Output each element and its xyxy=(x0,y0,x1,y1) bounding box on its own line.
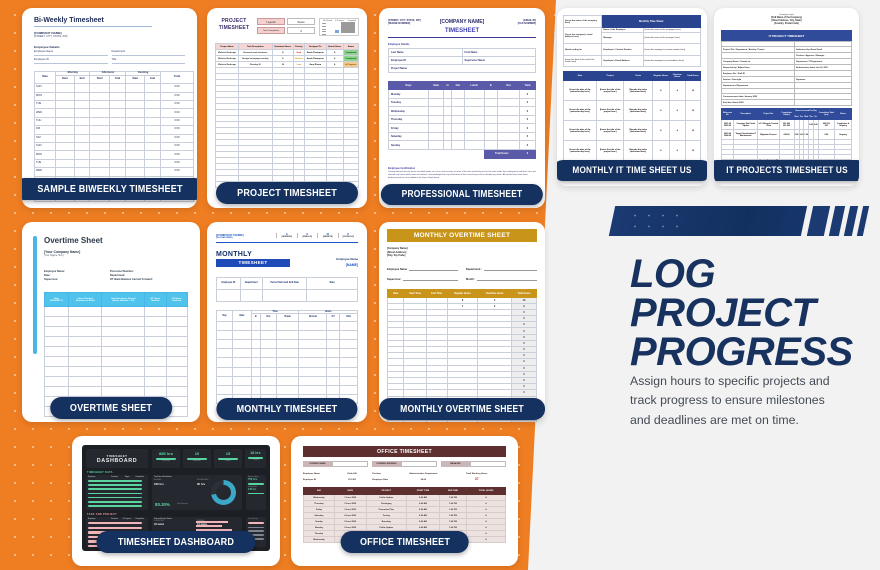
field-label-employee-id: Employee ID xyxy=(34,59,108,62)
section-task-and-project: TASK AND PROJECT xyxy=(87,513,117,516)
dashboard-title-box: TIMESHEET DASHBOARD xyxy=(86,449,148,468)
table-row: [Insert the date of the particular day h… xyxy=(564,81,701,101)
sheet-title: Overtime Sheet xyxy=(44,236,188,245)
table-row: Monday0 xyxy=(389,90,536,99)
employee-label: Employee Name xyxy=(290,257,358,261)
table-row: SAT0:00 xyxy=(35,134,194,142)
sheet-title: IT PROJECT TIMESHEET xyxy=(721,30,852,41)
meta-value-total: 4 xyxy=(287,27,315,34)
table-row: SUN0:00 xyxy=(35,84,194,92)
promo-title: LOG PROJECT PROGRESS xyxy=(630,255,880,371)
header-fax: [FAX NUMBER] xyxy=(490,22,536,25)
table-row: Month ending for Employee's Contact Numb… xyxy=(564,44,701,56)
legend-not-started: Not Started xyxy=(323,20,332,22)
table-row: FRI0:00 xyxy=(35,126,194,134)
table-header-row: Reference No. Description Project No. Co… xyxy=(722,109,852,114)
table-employee-overtime: Employee Overtime Target Completion xyxy=(86,475,148,510)
pill-label: OFFICE TIMESHEET xyxy=(359,536,449,548)
info-value-employee-rate: 20.00 xyxy=(404,479,442,481)
card-label-pill[interactable]: SAMPLE BIWEEKLY TIMESHEET xyxy=(22,178,197,200)
table-row: Saturday0 xyxy=(389,132,536,141)
table-row: Project Name xyxy=(389,65,536,73)
field-supervisor: Supervisor: xyxy=(387,278,401,281)
table-row: End date: March 2050 xyxy=(722,100,852,106)
header-phone: [PHONE NUMBER] xyxy=(388,22,434,25)
field-label-employee-name: Employee Name xyxy=(34,51,108,54)
utilization-donut-chart xyxy=(211,480,236,505)
field-department: Department : xyxy=(466,268,482,271)
pill-label: OVERTIME SHEET xyxy=(70,402,152,414)
card-label-pill[interactable]: PROJECT TIMESHEET xyxy=(216,182,358,204)
pill-label: MONTHLY IT TIME SHEET US xyxy=(572,165,691,176)
table-header-row: Date (DD/MM/YY) Hours Worked (Duration o… xyxy=(45,293,188,307)
pill-label: PROJECT TIMESHEET xyxy=(237,187,337,199)
pill-label: SAMPLE BIWEEKLY TIMESHEET xyxy=(37,183,182,195)
pill-label: TIMESHEET DASHBOARD xyxy=(118,536,234,548)
table-row: [Insert the date of the particular day h… xyxy=(564,101,701,121)
kpi-overtime: 48 hrs Overtime xyxy=(245,449,266,468)
section-heading: Employee Details xyxy=(34,46,189,50)
info-value-employee-name: Kelly Hill xyxy=(337,473,367,475)
card-label-pill[interactable]: TIMESHEET DASHBOARD xyxy=(96,531,255,553)
table-row: THU0:00 xyxy=(35,117,194,125)
table-row: Sunday0 xyxy=(389,141,536,150)
card-label-pill[interactable]: OVERTIME SHEET xyxy=(50,397,172,419)
table-header-row: Days Date In Out Lunch In Out Total xyxy=(389,82,536,90)
field-month: Month : xyxy=(466,278,475,281)
info-label-employee-name: Employee Name xyxy=(303,473,337,475)
sheet-title: PROJECT TIMESHEET xyxy=(215,18,253,32)
table-row: TUE0:00 xyxy=(35,101,194,109)
table-row: MON0:00 xyxy=(35,151,194,159)
table-row: Last Name First Name xyxy=(389,49,536,57)
kpi-employees: 10 Employees xyxy=(183,449,211,468)
field-label-manager: MANAGER xyxy=(441,461,470,467)
table-row: Employee ID Supervisor Name xyxy=(389,57,536,65)
company-city: [City, Zip Code] xyxy=(387,254,537,258)
side-stat-panel: Approved Hours 750 hrs Pending Hours 135… xyxy=(246,475,266,510)
table-row: [Insert the name of the company here] Mo… xyxy=(564,16,701,28)
gauge-value: 80.30% xyxy=(155,502,170,507)
card-it-projects-timesheet-us[interactable]: [Company Logo] [Full Name of the Company… xyxy=(714,8,859,186)
field-label-company-address: COMPANY ADDRESS xyxy=(372,461,401,467)
card-timesheet-dashboard[interactable]: TIMESHEET DASHBOARD 885 hrs Total Hours … xyxy=(72,436,280,566)
field-supervisor: Supervisor: xyxy=(44,278,102,282)
kpi-total-hours: 885 hrs Total Hours xyxy=(152,449,180,468)
info-label-total-hours: Total Working Hours xyxy=(448,473,506,475)
field-label-company-name: COMPANY NAME xyxy=(303,461,332,467)
card-label-pill[interactable]: MONTHLY IT TIME SHEET US xyxy=(557,160,707,181)
sheet-title: TIMESHEET xyxy=(388,28,536,34)
card-project-timesheet[interactable]: PROJECT TIMESHEET Legends Weeks Total Co… xyxy=(207,8,367,208)
promo-title-line-2: PROJECT xyxy=(630,294,880,333)
card-sample-biweekly-timesheet[interactable]: Bi-Weekly Timesheet [COMPANY NAME] [STRE… xyxy=(22,8,197,208)
info-value-total-hours: 37 xyxy=(448,477,506,481)
card-label-pill[interactable]: MONTHLY OVERTIME SHEET xyxy=(379,398,545,420)
card-office-timesheet[interactable]: OFFICE TIMESHEET COMPANY NAME COMPANY AD… xyxy=(291,436,518,566)
table-total-row: Total Hours 0 xyxy=(389,149,536,158)
table-header-row: DAY DATE PROJECT START TIME END TIME TOT… xyxy=(304,488,506,495)
card-overtime-sheet[interactable]: Overtime Sheet [Your Company Name] [Your… xyxy=(22,222,200,422)
table-header-row: Date Start Time End Time Regular Hours O… xyxy=(388,289,537,297)
card-label-pill[interactable]: OFFICE TIMESHEET xyxy=(340,531,469,553)
card-label-pill[interactable]: PROFESSIONAL TIMESHEET xyxy=(381,184,543,205)
company-tagline: [SLOGAN HERE] xyxy=(216,237,276,239)
header-company: [COMPANY NAME] xyxy=(434,19,490,25)
table-row: [Insert the date of the particular day h… xyxy=(564,121,701,141)
company-name: [Your Company Name] xyxy=(44,250,188,254)
table-row: Thursday0 xyxy=(389,115,536,124)
table-row: MON0:00 xyxy=(35,92,194,100)
field-label-department: Department xyxy=(112,51,186,54)
card-monthly-it-time-sheet-us[interactable]: [Insert the name of the company here] Mo… xyxy=(557,8,707,186)
company-country: [Country, Postal Code] xyxy=(721,23,852,26)
sheet-title-line1: MONTHLY xyxy=(216,251,290,258)
table-row: WED0:00 xyxy=(35,168,194,176)
info-label-employee-id: Employee ID xyxy=(303,479,337,481)
col-total: Total xyxy=(161,72,194,84)
table-row: WED0:00 xyxy=(35,109,194,117)
table-row: [Insert the date of the particular day h… xyxy=(564,141,701,161)
table-row: TUE0:00 xyxy=(35,159,194,167)
card-monthly-timesheet[interactable]: [COMPANY NAME] [SLOGAN HERE] A [ADDRESS]… xyxy=(207,222,367,422)
disclaimer-title: Employee Certification xyxy=(388,167,536,170)
info-label-employee-rate: Employee Rate xyxy=(372,479,404,481)
promo-title-line-1: LOG xyxy=(630,255,880,294)
col-date: Date xyxy=(35,72,56,84)
pill-label: PROFESSIONAL TIMESHEET xyxy=(402,189,523,200)
mini-chart: Not Started In Progress Completed xyxy=(319,18,359,36)
sheet-title-line2: TIMESHEET xyxy=(216,259,290,267)
gauge-label: Total Utilization xyxy=(177,504,188,506)
meta-label-legends: Legends xyxy=(257,18,285,25)
title-underline xyxy=(34,26,152,27)
section-heading: Employee Details xyxy=(388,43,536,46)
promo-title-line-3: PROGRESS xyxy=(630,333,880,372)
table-row: Tuesday0 xyxy=(389,98,536,107)
info-value-position: Administrative Department xyxy=(404,473,442,475)
table-row: [Insert the date of the end of the month… xyxy=(564,56,701,67)
card-professional-timesheet[interactable]: [STREET, CITY, STATE, ZIP] [PHONE NUMBER… xyxy=(379,8,545,208)
kpi-projects: 15 Projects xyxy=(214,449,242,468)
company-tagline: [Your Tagline Here] xyxy=(44,255,188,257)
card-label-pill[interactable]: IT PROJECTS TIMESHEET US xyxy=(714,160,859,181)
disclaimer-text: I hereby declare that the hours recorded… xyxy=(388,171,536,180)
table-row: 0001-00 0002-00 Company Site Portal Upda… xyxy=(722,120,852,130)
section-timesheet-data: TIMESHEET DATA xyxy=(87,471,113,474)
meta-value-weeks: Weeks xyxy=(287,18,315,25)
sheet-title: OFFICE TIMESHEET xyxy=(303,446,506,457)
table-row: Friday0 xyxy=(389,124,536,133)
pill-label: IT PROJECTS TIMESHEET US xyxy=(726,165,847,176)
table-row: 0003-00 0004-00 Target Classification IT… xyxy=(722,130,852,140)
card-monthly-overtime-sheet[interactable]: MONTHLY OVERTIME SHEET [Company Name] [S… xyxy=(379,222,545,422)
field-employee-name: Employee Name xyxy=(387,268,407,271)
info-label-position: Position xyxy=(372,473,404,475)
sheet-title: MONTHLY OVERTIME SHEET xyxy=(387,229,537,242)
meta-label-total-completion: Total Completion xyxy=(257,27,285,34)
decorative-dot-accent xyxy=(628,210,688,234)
table-row: SUN0:00 xyxy=(35,143,194,151)
field-label-title: Title xyxy=(112,59,186,62)
field-ot-balance: OT Bank Balance Carried Forward: xyxy=(110,278,188,282)
pill-label: MONTHLY TIMESHEET xyxy=(237,403,338,415)
company-address: [STREET, CITY, STATE, ZIP] xyxy=(34,36,189,39)
table-header-row: Date Project Tasks Regular Hours Overtim… xyxy=(564,72,701,81)
table-header-row: Employee ID Department Period Start and … xyxy=(217,277,358,289)
utilization-gauge-panel: Total Hours Breakdown BILLABLE NON-BILLA… xyxy=(152,475,242,510)
sheet-title: Monthly Time Sheet xyxy=(602,16,701,28)
pill-label: MONTHLY OVERTIME SHEET xyxy=(400,404,524,415)
employee-value: [NAME] xyxy=(290,263,358,267)
table-row: Wednesday0 xyxy=(389,107,536,116)
sheet-title: Bi-Weekly Timesheet xyxy=(34,17,189,24)
promo-body-text: Assign hours to specific projects and tr… xyxy=(630,372,848,430)
company-logo-text: [Company Logo] xyxy=(721,14,852,16)
card-label-pill[interactable]: MONTHLY TIMESHEET xyxy=(216,398,357,420)
info-value-employee-id: 15-1301 xyxy=(337,479,367,481)
